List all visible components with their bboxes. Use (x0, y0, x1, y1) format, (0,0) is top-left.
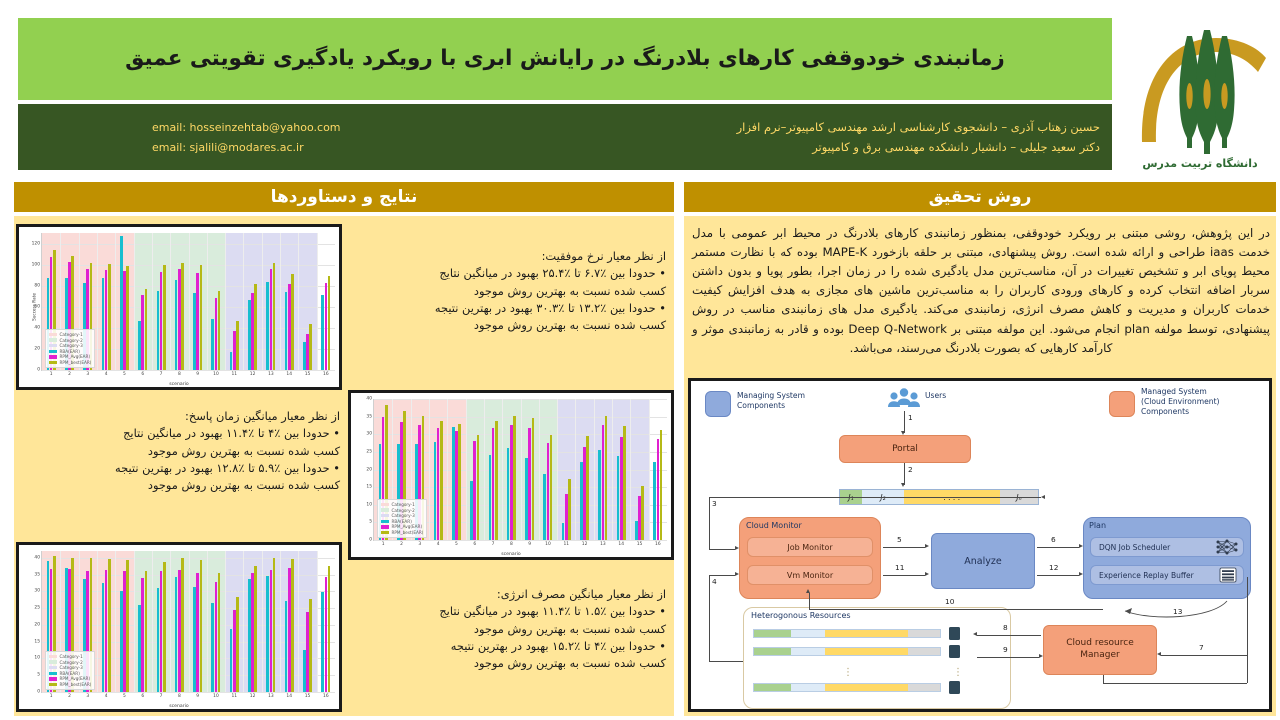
results-line: کسب شده نسبت به بهترین روش موجود (348, 621, 666, 638)
results-text-energy: از نظر معیار میانگین مصرف انرژی: • حدودا… (348, 586, 666, 673)
chart-legend: Category-1Category-2Category-3RBA(EAR)RP… (45, 329, 95, 368)
results-line: کسب شده نسبت به بهترین روش موجود (348, 283, 666, 300)
bar (254, 284, 257, 370)
legend-item: Category-1 (381, 502, 423, 507)
legend-label: RPM_best(EAR) (60, 682, 92, 687)
results-heading: از نظر معیار میانگین مصرف انرژی: (348, 586, 666, 603)
results-line: • حدودا بین ٪۶.۷ تا ٪۲۵.۴ بهبود در میانگ… (348, 265, 666, 282)
bar-group (207, 291, 225, 370)
legend-label: Category-1 (60, 332, 83, 337)
y-axis-tick: 60 (34, 304, 42, 309)
legend-item: Category-3 (49, 343, 91, 348)
legend-swatch (381, 508, 389, 511)
bar-group (97, 559, 115, 692)
x-axis-tick: 8 (178, 370, 181, 377)
bar-group (447, 424, 465, 540)
neural-network-icon (1215, 539, 1239, 555)
bar (108, 559, 111, 692)
results-heading: از نظر معیار نرخ موفقیت: (348, 248, 666, 265)
university-logo: دانشگاه تربیت مدرس (1124, 14, 1276, 174)
bar (458, 424, 461, 540)
legend-swatch-managed (1109, 391, 1135, 417)
legend-item: RBA(EAR) (49, 349, 91, 354)
bar-group (189, 560, 207, 692)
legend-item: Category-2 (381, 508, 423, 513)
legend-label: RBA(EAR) (392, 519, 412, 524)
bar (218, 573, 221, 693)
legend-swatch (49, 683, 57, 686)
edge-2-line (904, 463, 905, 485)
bar (309, 324, 312, 370)
x-axis-tick: 1 (50, 370, 53, 377)
plot-area: Average Energy Consumptionscenario051015… (19, 545, 339, 709)
bar (236, 321, 239, 370)
x-axis-tick: 13 (268, 370, 274, 377)
legend-swatch (49, 672, 57, 675)
bar-group (298, 599, 316, 692)
plot-area: Average Response Timescenario05101520253… (351, 393, 671, 557)
y-axis-tick: 35 (366, 414, 374, 419)
chart-legend: Category-1Category-2Category-3RBA(EAR)RP… (45, 651, 95, 690)
bar-group (484, 421, 502, 540)
edge-label-3: 3 (712, 499, 717, 508)
legend-item: RPM_Avg(EAR) (49, 676, 91, 681)
resource-bar (753, 647, 941, 656)
edge-3-bottom (709, 549, 735, 550)
edge-label-10: 10 (945, 597, 954, 606)
y-axis-tick: 30 (34, 589, 42, 594)
edge-8-line (977, 635, 1041, 636)
bar (181, 263, 184, 370)
bar (291, 274, 294, 370)
resource-ellipsis: ⋮ (843, 667, 854, 678)
poster-header: زمانبندی خودوقفی کارهای بلادرنگ در رایان… (0, 0, 1280, 178)
bar (550, 435, 553, 540)
edge-1-line (904, 411, 905, 433)
node-plan-label: Plan (1089, 521, 1106, 530)
edge-11-arrowhead (925, 572, 929, 576)
bar-group (97, 264, 115, 370)
x-axis-tick: 15 (305, 370, 311, 377)
node-vm-monitor[interactable]: Vm Monitor (747, 565, 873, 585)
y-axis-tick: 30 (366, 432, 374, 437)
bar (273, 263, 276, 370)
x-axis-tick: 5 (123, 370, 126, 377)
title-band: زمانبندی خودوقفی کارهای بلادرنگ در رایان… (18, 18, 1112, 100)
legend-label: Category-3 (60, 343, 83, 348)
x-axis-tick: 15 (305, 692, 311, 699)
y-axis-tick: 25 (34, 606, 42, 611)
bar-group (557, 479, 575, 540)
edge-5-line (883, 547, 925, 548)
results-line: کسب شده نسبت به بهترین روش موجود (100, 477, 340, 494)
bar (660, 430, 663, 540)
bar (181, 558, 184, 692)
legend-label: Category-1 (392, 502, 415, 507)
bar-group (189, 265, 207, 370)
legend-swatch (381, 525, 389, 528)
database-icon (1219, 567, 1237, 583)
node-plan[interactable] (1083, 517, 1251, 599)
bar (163, 265, 166, 370)
bar (641, 486, 644, 540)
x-axis-label: scenario (351, 552, 671, 557)
bar-group (429, 421, 447, 540)
edge-11-line (883, 575, 925, 576)
bar (163, 562, 166, 692)
legend-item: RPM_best(EAR) (381, 530, 423, 535)
edge-label-8: 8 (1003, 623, 1008, 632)
bar (605, 416, 608, 540)
resource-bar (753, 629, 941, 638)
legend-swatch (381, 531, 389, 534)
legend-item: Category-2 (49, 338, 91, 343)
edge-4-arrowhead (735, 572, 739, 576)
legend-item: RPM_best(EAR) (49, 360, 91, 365)
edge-13-curve (1111, 599, 1231, 623)
edge-6-line (1037, 547, 1079, 548)
resource-bar (753, 683, 941, 692)
legend-label: Category-2 (392, 508, 415, 513)
edge-label-4: 4 (712, 577, 717, 586)
section-header-results: نتایج و دستاوردها (14, 182, 674, 212)
architecture-diagram: Managing System Components Managed Syste… (688, 378, 1272, 712)
y-axis-tick: 40 (34, 555, 42, 560)
author-row: دکتر سعید جلیلی – دانشیار دانشکده مهندسی… (18, 137, 1112, 157)
x-axis-tick: 2 (68, 370, 71, 377)
plot-grid: 02040608010012012345678910111213141516Ca… (41, 233, 335, 371)
x-axis-tick: 9 (196, 370, 199, 377)
x-axis-tick: 10 (213, 370, 219, 377)
x-axis-tick: 5 (455, 540, 458, 547)
bar-group (115, 236, 133, 370)
logo-caption: دانشگاه تربیت مدرس (1124, 157, 1276, 170)
results-heading: از نظر معیار میانگین زمان پاسخ: (100, 408, 340, 425)
chart-legend: Category-1Category-2Category-3RBA(EAR)RP… (377, 499, 427, 538)
y-axis-tick: 10 (366, 502, 374, 507)
x-axis-tick: 13 (268, 692, 274, 699)
results-line: کسب شده نسبت به بهترین روش موجود (348, 317, 666, 334)
legend-label: RBA(EAR) (60, 671, 80, 676)
bar (623, 426, 626, 540)
legend-swatch (49, 333, 57, 336)
legend-item: Category-1 (49, 332, 91, 337)
group-heterogenous-resources (743, 607, 1011, 709)
bar (291, 559, 294, 692)
edge-4-left (709, 575, 710, 661)
results-line: • حدودا بین ٪۱.۵ تا ٪۱۱.۴ بهبود در میانگ… (348, 603, 666, 620)
bar-group (115, 560, 133, 692)
x-axis-tick: 6 (473, 540, 476, 547)
legend-swatch (49, 660, 57, 663)
bar-group (243, 284, 261, 370)
edge-10-up (809, 593, 810, 609)
bar-group (521, 418, 539, 540)
legend-swatch (49, 338, 57, 341)
bar (254, 566, 257, 692)
chart-average-response-time: Average Response Timescenario05101520253… (348, 390, 674, 560)
results-line: • حدودا بین ٪۴ تا ٪۱۱.۴ بهبود در میانگین… (100, 425, 340, 442)
resource-chip-icon (949, 645, 960, 658)
results-text-response-time: از نظر معیار میانگین زمان پاسخ: • حدودا … (100, 408, 340, 495)
bar (145, 289, 148, 370)
bar (328, 566, 331, 692)
bar-group (594, 416, 612, 540)
y-axis-tick: 20 (366, 467, 374, 472)
author-name: حسین زهتاب آذری – دانشجوی کارشناسی ارشد … (552, 120, 1112, 134)
legend-swatch (49, 655, 57, 658)
x-axis-tick: 11 (231, 692, 237, 699)
bar (218, 291, 221, 370)
bar (513, 416, 516, 540)
users-icon (887, 387, 921, 411)
method-paragraph: در این پژوهش، روشی مبتنی بر رویکرد خودوق… (692, 224, 1270, 358)
bar (126, 560, 129, 692)
edge-3-top (709, 497, 1041, 498)
node-job-monitor[interactable]: Job Monitor (747, 537, 873, 557)
bar (532, 418, 535, 540)
bar (273, 558, 276, 692)
x-axis-tick: 8 (178, 692, 181, 699)
x-axis-tick: 6 (141, 692, 144, 699)
edge-label-5: 5 (897, 535, 902, 544)
x-axis-tick: 2 (68, 692, 71, 699)
legend-item: RPM_best(EAR) (49, 682, 91, 687)
x-axis-tick: 12 (250, 370, 256, 377)
y-axis-tick: 20 (34, 622, 42, 627)
y-axis-tick: 100 (32, 262, 42, 267)
x-axis-tick: 12 (250, 692, 256, 699)
legend-label: Category-2 (60, 338, 83, 343)
bar-group (262, 263, 280, 370)
x-axis-tick: 7 (492, 540, 495, 547)
edge-4-bottom (709, 661, 743, 662)
bar (328, 276, 331, 370)
bar-group (207, 573, 225, 693)
authors-band: حسین زهتاب آذری – دانشجوی کارشناسی ارشد … (18, 104, 1112, 170)
x-axis-tick: 16 (323, 692, 329, 699)
x-axis-tick: 14 (618, 540, 624, 547)
x-axis-tick: 4 (105, 370, 108, 377)
plot-grid: 051015202530354012345678910111213141516C… (41, 551, 335, 693)
plot-area: Success Ratescenario02040608010012012345… (19, 227, 339, 387)
node-cloud-resource-manager[interactable]: Cloud resource Manager (1043, 625, 1157, 675)
section-header-method: روش تحقیق (684, 182, 1276, 212)
legend-label: RPM_best(EAR) (60, 360, 92, 365)
page-title: زمانبندی خودوقفی کارهای بلادرنگ در رایان… (109, 45, 1021, 73)
legend-label: RBA(EAR) (60, 349, 80, 354)
bar (126, 266, 129, 370)
legend-swatch (381, 520, 389, 523)
x-axis-tick: 1 (50, 692, 53, 699)
section-header-results-label: نتایج و دستاوردها (271, 187, 418, 207)
x-axis-tick: 7 (160, 692, 163, 699)
bar-group (134, 289, 152, 370)
users-label: Users (925, 391, 946, 400)
bar (586, 436, 589, 540)
legend-item: Category-3 (381, 513, 423, 518)
legend-label: Category-3 (60, 665, 83, 670)
legend-swatch-managing (705, 391, 731, 417)
x-axis-tick: 11 (231, 370, 237, 377)
x-axis-tick: 15 (637, 540, 643, 547)
author-email[interactable]: email: hosseinzehtab@yahoo.com (132, 121, 552, 134)
x-axis-tick: 2 (400, 540, 403, 547)
x-axis-tick: 14 (286, 370, 292, 377)
edge-label-2: 2 (908, 465, 913, 474)
bar (200, 560, 203, 692)
y-axis-tick: 40 (34, 325, 42, 330)
bar-group (170, 263, 188, 370)
node-cloud-monitor-label: Cloud Monitor (746, 521, 802, 530)
bar-group (502, 416, 520, 540)
bar (477, 435, 480, 540)
x-axis-tick: 11 (563, 540, 569, 547)
node-analyze[interactable]: Analyze (931, 533, 1035, 589)
x-axis-tick: 14 (286, 692, 292, 699)
y-axis-tick: 40 (366, 397, 374, 402)
results-line: • حدودا بین ٪۱۳.۲ تا ٪۳۰.۳ بهبود در بهتر… (348, 300, 666, 317)
edge-7-line (1161, 655, 1247, 656)
bar (145, 571, 148, 692)
legend-label: RPM_best(EAR) (392, 530, 424, 535)
legend-item: RBA(EAR) (381, 519, 423, 524)
results-line: کسب شده نسبت به بهترین روش موجود (348, 655, 666, 672)
x-axis-tick: 7 (160, 370, 163, 377)
legend-item: Category-3 (49, 665, 91, 670)
bar-group (152, 562, 170, 692)
edge-label-6: 6 (1051, 535, 1056, 544)
chip-ellipsis: ⋮ (953, 667, 963, 678)
edge-label-7: 7 (1199, 643, 1204, 652)
legend-item: RPM_Avg(EAR) (49, 354, 91, 359)
edge-2-arrowhead (901, 483, 905, 487)
results-line: • حدودا بین ٪۵.۹ تا ٪۱۲.۸ بهبود در بهتری… (100, 460, 340, 477)
results-line: کسب شده نسبت به بهترین روش موجود (100, 443, 340, 460)
bar-group (280, 559, 298, 692)
edge-10-line (809, 609, 1103, 610)
edge-5-arrowhead (925, 544, 929, 548)
results-line: • حدودا بین ٪۴ تا ٪۱۵.۲ بهبود در بهترین … (348, 638, 666, 655)
legend-swatch (381, 514, 389, 517)
legend-label: RPM_Avg(EAR) (392, 524, 423, 529)
x-axis-label: scenario (19, 704, 339, 709)
resource-chip-icon (949, 627, 960, 640)
edge-4-top (709, 575, 735, 576)
bar-group (298, 324, 316, 370)
legend-swatch (49, 344, 57, 347)
legend-swatch (49, 350, 57, 353)
bar-group (575, 436, 593, 540)
x-axis-tick: 16 (655, 540, 661, 547)
y-axis-tick: 80 (34, 283, 42, 288)
legend-label: RPM_Avg(EAR) (60, 676, 91, 681)
legend-swatch (49, 677, 57, 680)
x-axis-tick: 9 (196, 692, 199, 699)
bar-group (225, 321, 243, 370)
legend-swatch (49, 361, 57, 364)
x-axis-tick: 4 (437, 540, 440, 547)
x-axis-tick: 6 (141, 370, 144, 377)
chart-average-energy-consumption: Average Energy Consumptionscenario051015… (16, 542, 342, 712)
edge-7-bottom (1103, 683, 1247, 684)
bar-group (262, 558, 280, 692)
x-axis-tick: 4 (105, 692, 108, 699)
legend-label: RPM_Avg(EAR) (60, 354, 91, 359)
bar (108, 264, 111, 370)
edge-7-right (1247, 577, 1248, 683)
x-axis-tick: 3 (418, 540, 421, 547)
edge-8-arrowhead (973, 632, 977, 636)
edge-9-line (977, 657, 1039, 658)
y-axis-tick: 35 (34, 572, 42, 577)
y-axis-tick: 15 (34, 639, 42, 644)
section-header-method-label: روش تحقیق (929, 187, 1032, 207)
plot-grid: 051015202530354012345678910111213141516C… (373, 399, 667, 541)
bar-group (317, 276, 335, 370)
author-email[interactable]: email: sjalili@modares.ac.ir (132, 141, 552, 154)
legend-label: Category-2 (60, 660, 83, 665)
edge-label-1: 1 (908, 413, 913, 422)
bar-group (280, 274, 298, 370)
edge-10-arrowhead (806, 589, 810, 593)
legend-item: RBA(EAR) (49, 671, 91, 676)
x-axis-label: scenario (19, 382, 339, 387)
bar (440, 421, 443, 540)
bar (309, 599, 312, 692)
y-axis-tick: 20 (34, 346, 42, 351)
x-axis-tick: 10 (213, 692, 219, 699)
bar-group (152, 265, 170, 370)
bar-group (630, 486, 648, 540)
bar-group (539, 435, 557, 540)
x-axis-tick: 1 (382, 540, 385, 547)
edge-7-arrowhead (1157, 652, 1161, 656)
node-portal[interactable]: Portal (839, 435, 971, 463)
x-axis-tick: 3 (86, 370, 89, 377)
author-row: حسین زهتاب آذری – دانشجوی کارشناسی ارشد … (18, 117, 1112, 137)
bar (236, 597, 239, 692)
bar-group (612, 426, 630, 540)
edge-into-queue-arrowhead (1041, 495, 1045, 499)
x-axis-tick: 12 (582, 540, 588, 547)
bar-group (225, 597, 243, 692)
legend-label: Category-1 (60, 654, 83, 659)
author-name: دکتر سعید جلیلی – دانشیار دانشکده مهندسی… (552, 140, 1112, 154)
edge-label-13: 13 (1173, 607, 1182, 616)
edge-label-11: 11 (895, 563, 904, 572)
bar (200, 265, 203, 370)
legend-item: Category-2 (49, 660, 91, 665)
bar-group (243, 566, 261, 692)
x-axis-tick: 16 (323, 370, 329, 377)
y-axis-tick: 120 (32, 241, 42, 246)
legend-label-managed: Managed System (Cloud Environment) Compo… (1141, 387, 1261, 417)
edge-label-9: 9 (1003, 645, 1008, 654)
legend-swatch (49, 666, 57, 669)
bar (568, 479, 571, 540)
results-text-success-rate: از نظر معیار نرخ موفقیت: • حدودا بین ٪۶.… (348, 248, 666, 335)
logo-icon (1124, 14, 1276, 164)
resource-chip-icon (949, 681, 960, 694)
bar-group (134, 571, 152, 692)
edge-3-left (709, 497, 710, 549)
edge-label-12: 12 (1049, 563, 1058, 572)
legend-item: Category-1 (49, 654, 91, 659)
y-axis-tick: 10 (34, 656, 42, 661)
bar-group (170, 558, 188, 692)
chart-success-rate: Success Ratescenario02040608010012012345… (16, 224, 342, 390)
